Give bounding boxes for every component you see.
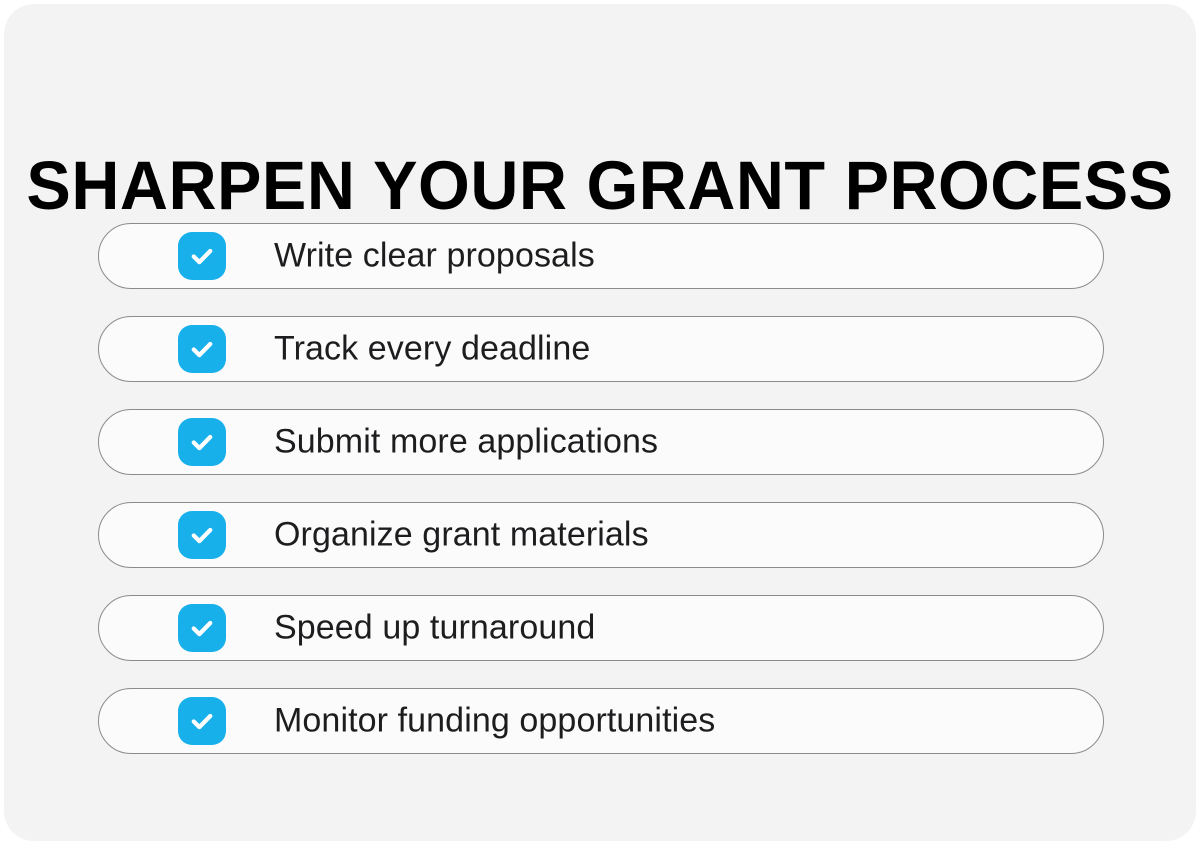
list-item-label: Speed up turnaround [274, 609, 595, 648]
list-item-label: Track every deadline [274, 330, 590, 369]
list-item[interactable]: Monitor funding opportunities [98, 688, 1104, 754]
check-icon [187, 706, 217, 736]
checkbox-checked[interactable] [178, 697, 226, 745]
check-icon [187, 613, 217, 643]
check-icon [187, 334, 217, 364]
list-item-label: Monitor funding opportunities [274, 702, 715, 741]
checkbox-checked[interactable] [178, 232, 226, 280]
check-icon [187, 241, 217, 271]
checkbox-checked[interactable] [178, 325, 226, 373]
content-card: SHARPEN YOUR GRANT PROCESS Write clear p… [4, 4, 1196, 841]
checkbox-checked[interactable] [178, 418, 226, 466]
list-item[interactable]: Submit more applications [98, 409, 1104, 475]
check-icon [187, 520, 217, 550]
list-item[interactable]: Speed up turnaround [98, 595, 1104, 661]
checkbox-checked[interactable] [178, 511, 226, 559]
list-item[interactable]: Write clear proposals [98, 223, 1104, 289]
list-item[interactable]: Track every deadline [98, 316, 1104, 382]
checklist: Write clear proposals Track every deadli… [98, 223, 1104, 754]
checkbox-checked[interactable] [178, 604, 226, 652]
list-item-label: Organize grant materials [274, 516, 649, 555]
list-item-label: Submit more applications [274, 423, 658, 462]
check-icon [187, 427, 217, 457]
list-item-label: Write clear proposals [274, 237, 595, 276]
list-item[interactable]: Organize grant materials [98, 502, 1104, 568]
page-title: SHARPEN YOUR GRANT PROCESS [25, 149, 1175, 223]
